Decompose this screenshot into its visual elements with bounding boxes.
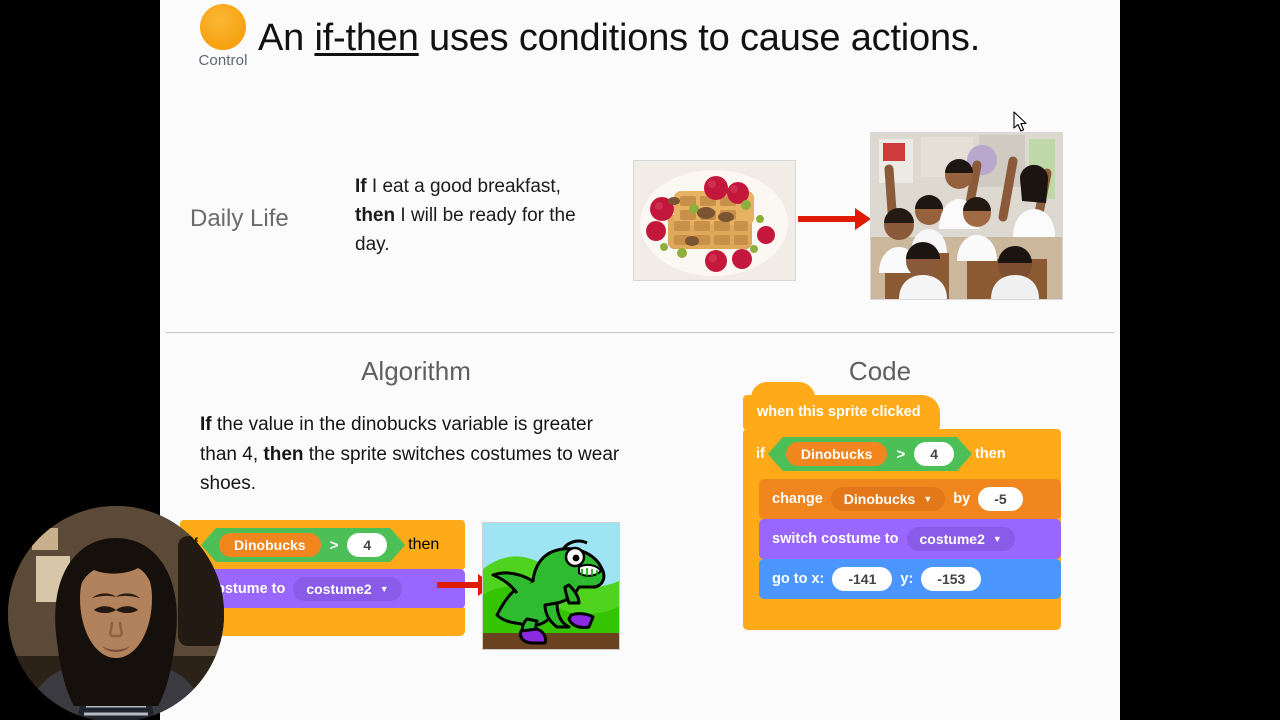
presentation-slide: Control An if-then uses conditions to ca… bbox=[160, 0, 1120, 720]
if-then-c-block[interactable]: if Dinobucks > 4 then change Dinobucks ▼ bbox=[743, 429, 1061, 630]
change-amount-value[interactable]: -5 bbox=[978, 487, 1022, 511]
code-then-label: then bbox=[975, 446, 1006, 462]
algorithm-statement: If the value in the dinobucks variable i… bbox=[200, 410, 620, 499]
when-sprite-clicked-hat-block[interactable]: when this sprite clicked bbox=[743, 395, 940, 430]
goto-y-label: y: bbox=[900, 571, 913, 587]
code-operator: > bbox=[896, 446, 905, 463]
algorithm-if-keyword: If bbox=[200, 414, 212, 435]
switch-costume-label: switch costume to bbox=[772, 531, 899, 547]
goto-y-value[interactable]: -153 bbox=[921, 567, 981, 591]
change-variable-dropdown[interactable]: Dinobucks ▼ bbox=[831, 487, 946, 511]
algorithm-then-keyword: then bbox=[263, 444, 303, 465]
algorithm-variable-pill[interactable]: Dinobucks bbox=[219, 533, 321, 557]
go-to-xy-block[interactable]: go to x: -141 y: -153 bbox=[759, 559, 1061, 599]
code-section-heading: Code bbox=[826, 356, 934, 387]
algorithm-condition-hexagon[interactable]: Dinobucks > 4 bbox=[201, 528, 405, 562]
algorithm-then-label: then bbox=[408, 536, 439, 554]
switch-costume-dropdown[interactable]: costume2 ▼ bbox=[907, 527, 1015, 551]
if-keyword: If bbox=[355, 176, 367, 197]
waffle-breakfast-photo bbox=[633, 160, 796, 281]
algorithm-costume-value: costume2 bbox=[306, 581, 371, 597]
change-verb-label: change bbox=[772, 491, 823, 507]
if-then-block-footer bbox=[743, 599, 1061, 630]
change-variable-name: Dinobucks bbox=[844, 491, 916, 507]
algorithm-if-block[interactable]: if Dinobucks > 4 then bbox=[180, 520, 465, 570]
code-condition-hexagon[interactable]: Dinobucks > 4 bbox=[768, 437, 972, 471]
algorithm-operator: > bbox=[330, 537, 339, 554]
screen-recording-frame: Control An if-then uses conditions to ca… bbox=[0, 0, 1280, 720]
control-category-badge: Control bbox=[186, 4, 260, 69]
chevron-down-icon: ▼ bbox=[380, 585, 389, 594]
control-badge-label: Control bbox=[186, 52, 260, 69]
code-scratch-blocks[interactable]: when this sprite clicked if Dinobucks > … bbox=[743, 395, 1061, 630]
daily-life-statement: If I eat a good breakfast, then I will b… bbox=[355, 172, 580, 259]
daily-life-row-label: Daily Life bbox=[190, 205, 370, 233]
presenter-webcam bbox=[8, 506, 224, 720]
statement-middle: I eat a good breakfast, bbox=[367, 176, 561, 197]
change-variable-block[interactable]: change Dinobucks ▼ by -5 bbox=[759, 479, 1061, 519]
algorithm-compare-value[interactable]: 4 bbox=[347, 533, 387, 557]
control-circle-icon bbox=[200, 4, 246, 50]
section-divider bbox=[166, 332, 1114, 333]
chevron-down-icon: ▼ bbox=[923, 495, 932, 504]
code-variable-pill[interactable]: Dinobucks bbox=[786, 442, 888, 466]
title-keyword: if-then bbox=[314, 17, 418, 59]
daily-life-cause-effect-arrow bbox=[798, 216, 856, 222]
hat-block-label: when this sprite clicked bbox=[757, 404, 921, 420]
then-keyword: then bbox=[355, 205, 395, 226]
page-title: An if-then uses conditions to cause acti… bbox=[258, 17, 1120, 60]
title-suffix: uses conditions to cause actions. bbox=[419, 17, 980, 59]
title-prefix: An bbox=[258, 17, 314, 59]
algorithm-result-arrow bbox=[437, 582, 479, 588]
code-if-label: if bbox=[756, 446, 765, 462]
if-then-header[interactable]: if Dinobucks > 4 then bbox=[743, 429, 1061, 479]
algorithm-switch-costume-block[interactable]: costume to costume2 ▼ bbox=[196, 569, 465, 609]
switch-costume-value: costume2 bbox=[920, 531, 985, 547]
goto-x-label: go to x: bbox=[772, 571, 824, 587]
chevron-down-icon: ▼ bbox=[993, 535, 1002, 544]
change-by-label: by bbox=[953, 491, 970, 507]
classroom-students-photo bbox=[870, 132, 1063, 300]
algorithm-section-heading: Algorithm bbox=[351, 356, 481, 387]
mouse-pointer-icon bbox=[1013, 111, 1029, 133]
algorithm-costume-dropdown[interactable]: costume2 ▼ bbox=[293, 577, 401, 601]
goto-x-value[interactable]: -141 bbox=[832, 567, 892, 591]
dinosaur-sprite-stage bbox=[482, 522, 620, 650]
switch-costume-block[interactable]: switch costume to costume2 ▼ bbox=[759, 519, 1061, 559]
if-then-body: change Dinobucks ▼ by -5 switch costume … bbox=[759, 479, 1061, 599]
code-compare-value[interactable]: 4 bbox=[914, 442, 954, 466]
